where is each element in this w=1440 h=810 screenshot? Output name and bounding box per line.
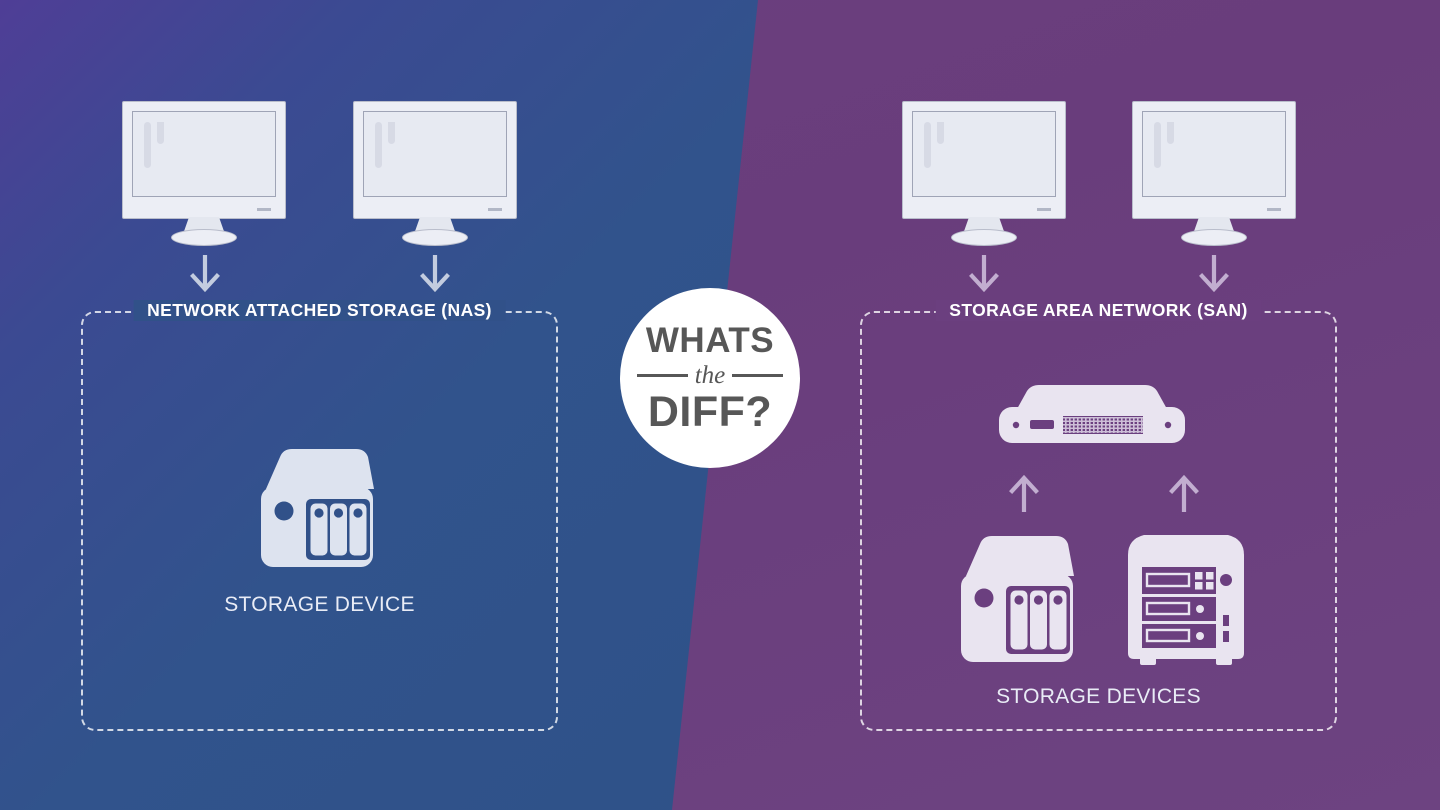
- screen-glint-icon: [388, 122, 395, 144]
- nas-device-caption: STORAGE DEVICE: [81, 593, 558, 617]
- screen-glint-icon: [937, 122, 944, 144]
- monitor-indicator-icon: [1037, 208, 1051, 211]
- tower-server-icon: [1124, 531, 1248, 671]
- monitor-bezel: [902, 101, 1066, 219]
- badge-rule-right: [732, 374, 783, 377]
- badge-line-the: the: [695, 363, 726, 388]
- monitor-stand-base: [402, 229, 468, 246]
- badge-rule-left: [637, 374, 688, 377]
- monitor-screen: [363, 111, 507, 197]
- screen-glint-icon: [375, 122, 382, 168]
- monitor-screen: [1142, 111, 1286, 197]
- monitor-indicator-icon: [257, 208, 271, 211]
- monitor-stand-base: [171, 229, 237, 246]
- whats-the-diff-badge: WHATS the DIFF?: [620, 288, 800, 468]
- arrow-down-icon: [189, 255, 221, 298]
- infographic-canvas: NETWORK ATTACHED STORAGE (NAS) STORAGE D…: [0, 0, 1440, 810]
- screen-glint-icon: [1154, 122, 1161, 168]
- arrow-down-icon: [1198, 255, 1230, 298]
- monitor-bezel: [1132, 101, 1296, 219]
- nas-box-icon: [255, 445, 385, 575]
- nas-box-icon: [955, 532, 1085, 669]
- monitor-stand-base: [1181, 229, 1247, 246]
- monitor-indicator-icon: [488, 208, 502, 211]
- screen-glint-icon: [144, 122, 151, 168]
- san-zone-box: STORAGE AREA NETWORK (SAN): [860, 311, 1337, 731]
- client-monitor-2: [353, 101, 517, 245]
- san-zone-label: STORAGE AREA NETWORK (SAN): [935, 300, 1262, 321]
- screen-glint-icon: [157, 122, 164, 144]
- arrow-up-icon: [1008, 474, 1040, 517]
- arrow-down-icon: [968, 255, 1000, 298]
- screen-glint-icon: [924, 122, 931, 168]
- monitor-screen: [132, 111, 276, 197]
- monitor-bezel: [122, 101, 286, 219]
- monitor-screen: [912, 111, 1056, 197]
- network-switch-icon: [997, 383, 1187, 460]
- monitor-stand-base: [951, 229, 1017, 246]
- badge-line-diff: DIFF?: [648, 391, 772, 434]
- client-monitor-4: [1132, 101, 1296, 245]
- arrow-up-icon: [1168, 474, 1200, 517]
- nas-zone-label: NETWORK ATTACHED STORAGE (NAS): [133, 300, 506, 321]
- screen-glint-icon: [1167, 122, 1174, 144]
- badge-line-whats: WHATS: [646, 323, 774, 358]
- monitor-bezel: [353, 101, 517, 219]
- san-devices-caption: STORAGE DEVICES: [860, 685, 1337, 709]
- client-monitor-3: [902, 101, 1066, 245]
- badge-line-the-row: the: [637, 363, 783, 388]
- arrow-down-icon: [419, 255, 451, 298]
- client-monitor-1: [122, 101, 286, 245]
- monitor-indicator-icon: [1267, 208, 1281, 211]
